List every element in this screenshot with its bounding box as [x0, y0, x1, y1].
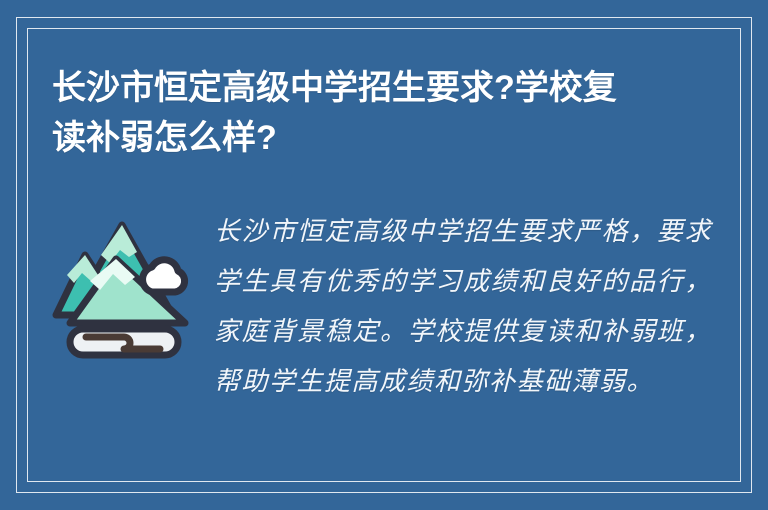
- mountain-landscape-svg: [52, 211, 192, 361]
- poster-canvas: 长沙市恒定高级中学招生要求?学校复读补弱怎么样?: [0, 0, 768, 510]
- content-row: 长沙市恒定高级中学招生要求严格，要求学生具有优秀的学习成绩和良好的品行，家庭背景…: [52, 205, 712, 407]
- page-title: 长沙市恒定高级中学招生要求?学校复读补弱怎么样?: [52, 63, 642, 163]
- body-paragraph: 长沙市恒定高级中学招生要求严格，要求学生具有优秀的学习成绩和良好的品行，家庭背景…: [214, 205, 712, 407]
- mountain-landscape-icon: [52, 211, 192, 361]
